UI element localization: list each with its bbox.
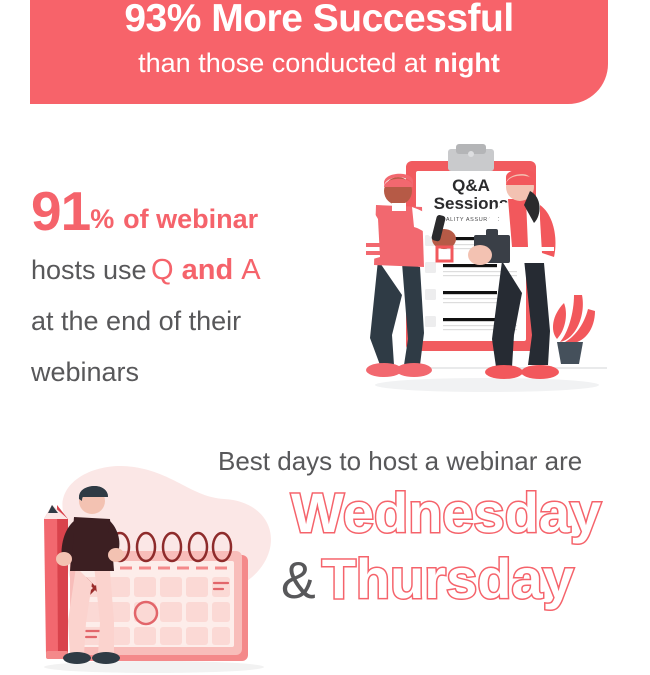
stat-line-3: at the end of their bbox=[31, 298, 361, 349]
qa-sessions-illustration: Q&A Sessions QUALITY ASSURANCE bbox=[352, 143, 612, 401]
stat-line4-text: webinars bbox=[31, 357, 139, 387]
calendar-day-cell bbox=[160, 577, 182, 597]
stat-line-4: webinars bbox=[31, 349, 361, 400]
giant-pencil-icon bbox=[44, 505, 68, 659]
ground-shadow bbox=[375, 378, 599, 392]
man-shoe-right bbox=[92, 652, 120, 664]
woman-small-clipboard-clip bbox=[486, 229, 498, 237]
checkbox bbox=[425, 316, 436, 327]
banner-headline: 93% More Successful bbox=[124, 0, 513, 42]
calendar-day-cell bbox=[212, 627, 230, 645]
best-day-thursday-row: & Thursday bbox=[281, 549, 574, 611]
calendar-day-cell bbox=[160, 627, 182, 645]
banner-sub-prefix: than those conducted at bbox=[138, 48, 434, 78]
man-sleeve-stripe bbox=[366, 251, 384, 255]
stat-and: and bbox=[182, 254, 234, 286]
man-sleeve-stripe bbox=[366, 243, 384, 247]
stat-line-2: hosts use Q and A bbox=[31, 247, 361, 298]
woman-hand bbox=[468, 245, 492, 265]
man-shoe-left bbox=[63, 652, 91, 664]
calendar-day-cell bbox=[186, 577, 208, 597]
checklist-bar bbox=[443, 291, 497, 294]
man-shoe-right bbox=[396, 363, 432, 377]
plant-pot bbox=[557, 342, 583, 364]
woman-sleeve-stripe bbox=[538, 247, 554, 251]
stat-number: 91 bbox=[31, 180, 90, 242]
clipboard-title-line1: Q&A bbox=[452, 176, 490, 195]
calendar-day-cell bbox=[134, 577, 156, 597]
calendar-illustration bbox=[24, 455, 292, 675]
calendar-day-cell bbox=[212, 602, 230, 622]
man-tshirt bbox=[70, 517, 114, 571]
pencil-body-shade bbox=[57, 505, 68, 655]
top-banner: 93% More Successful than those conducted… bbox=[30, 0, 608, 104]
banner-subheadline: than those conducted at night bbox=[138, 46, 500, 80]
calendar-day-cell bbox=[186, 602, 208, 622]
stat-line2-prefix: hosts use bbox=[31, 255, 147, 285]
banner-sub-strong: night bbox=[434, 48, 500, 78]
stat-line-1: 91% of webinar bbox=[31, 188, 361, 247]
calendar-day-cell bbox=[160, 602, 182, 622]
checklist-bar bbox=[443, 318, 497, 321]
potted-plant-icon bbox=[553, 295, 595, 364]
checklist-bar bbox=[443, 264, 497, 267]
stat-line3-text: at the end of their bbox=[31, 306, 241, 336]
best-day-wednesday: Wednesday bbox=[291, 483, 601, 543]
man-hand-left bbox=[56, 552, 72, 566]
stat-q: Q bbox=[151, 254, 174, 286]
woman-shoe-left bbox=[485, 365, 523, 379]
checkbox bbox=[425, 289, 436, 300]
clipboard-clip-hole bbox=[468, 151, 474, 157]
man-hand-right bbox=[108, 548, 124, 562]
woman-shoe-right bbox=[521, 365, 559, 379]
plant-leaf bbox=[553, 303, 566, 339]
stat-percent-sign: % bbox=[90, 204, 114, 234]
best-day-thursday: Thursday bbox=[322, 549, 574, 609]
man-pants-left bbox=[370, 260, 402, 365]
stat-a: A bbox=[241, 254, 260, 286]
stat-qanda: Q and A bbox=[151, 254, 261, 286]
stat-line1-red: of webinar bbox=[123, 204, 258, 234]
man-collar bbox=[392, 203, 406, 211]
webinar-qa-stat: 91% of webinar hosts use Q and A at the … bbox=[31, 188, 361, 400]
checkbox bbox=[425, 262, 436, 273]
calendar-day-cell bbox=[186, 627, 208, 645]
calendar-day-cell bbox=[134, 627, 156, 645]
calendar-day-cell bbox=[212, 577, 230, 597]
